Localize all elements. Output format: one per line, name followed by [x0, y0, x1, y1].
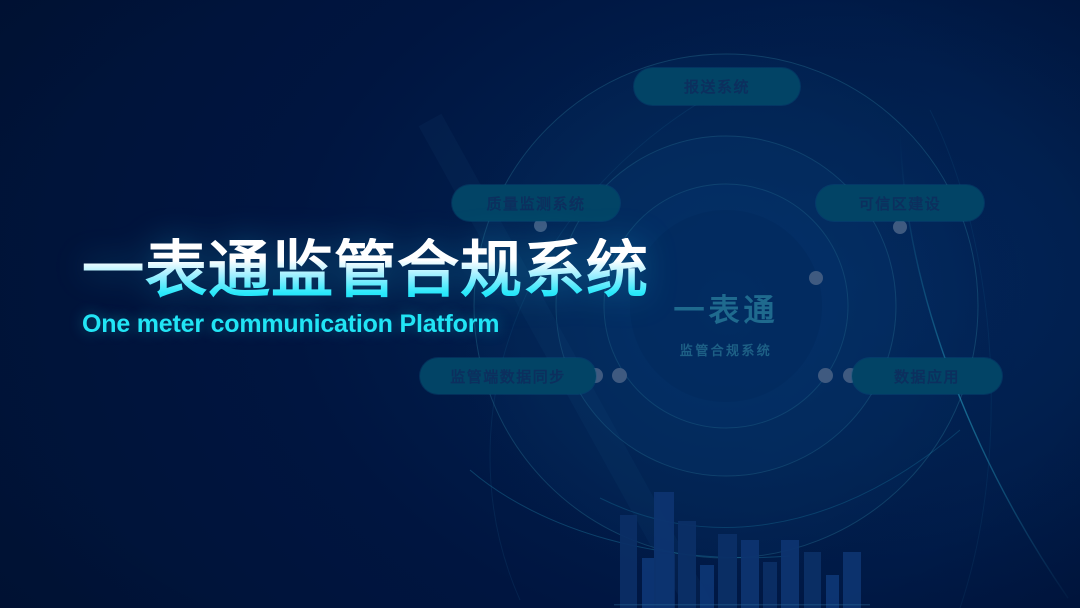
node-data-sync[interactable]: 监管端数据同步 [420, 358, 596, 394]
connector-dot-right-a [818, 368, 833, 383]
node-quality-label: 质量监测系统 [486, 193, 585, 214]
slide-canvas: 一表通 监管合规系统 报送系统 质量监测系统 可信区建设 监管端数据同步 数据应… [0, 0, 1080, 608]
node-trusted-zone-label: 可信区建设 [859, 193, 942, 214]
connector-dot-trusted-zone [893, 220, 907, 234]
node-reporting[interactable]: 报送系统 [634, 68, 800, 105]
connector-dot-upper-right [809, 271, 823, 285]
page-title: 一表通监管合规系统 [82, 238, 649, 303]
node-data-app[interactable]: 数据应用 [852, 358, 1002, 394]
node-trusted-zone[interactable]: 可信区建设 [816, 185, 984, 221]
node-quality[interactable]: 质量监测系统 [452, 185, 620, 221]
node-data-app-label: 数据应用 [894, 366, 960, 387]
connector-dot-left-b [612, 368, 627, 383]
page-subtitle: One meter communication Platform [82, 310, 649, 339]
node-reporting-label: 报送系统 [684, 76, 750, 97]
headline-block: 一表通监管合规系统 One meter communication Platfo… [82, 238, 649, 339]
node-data-sync-label: 监管端数据同步 [450, 366, 566, 387]
